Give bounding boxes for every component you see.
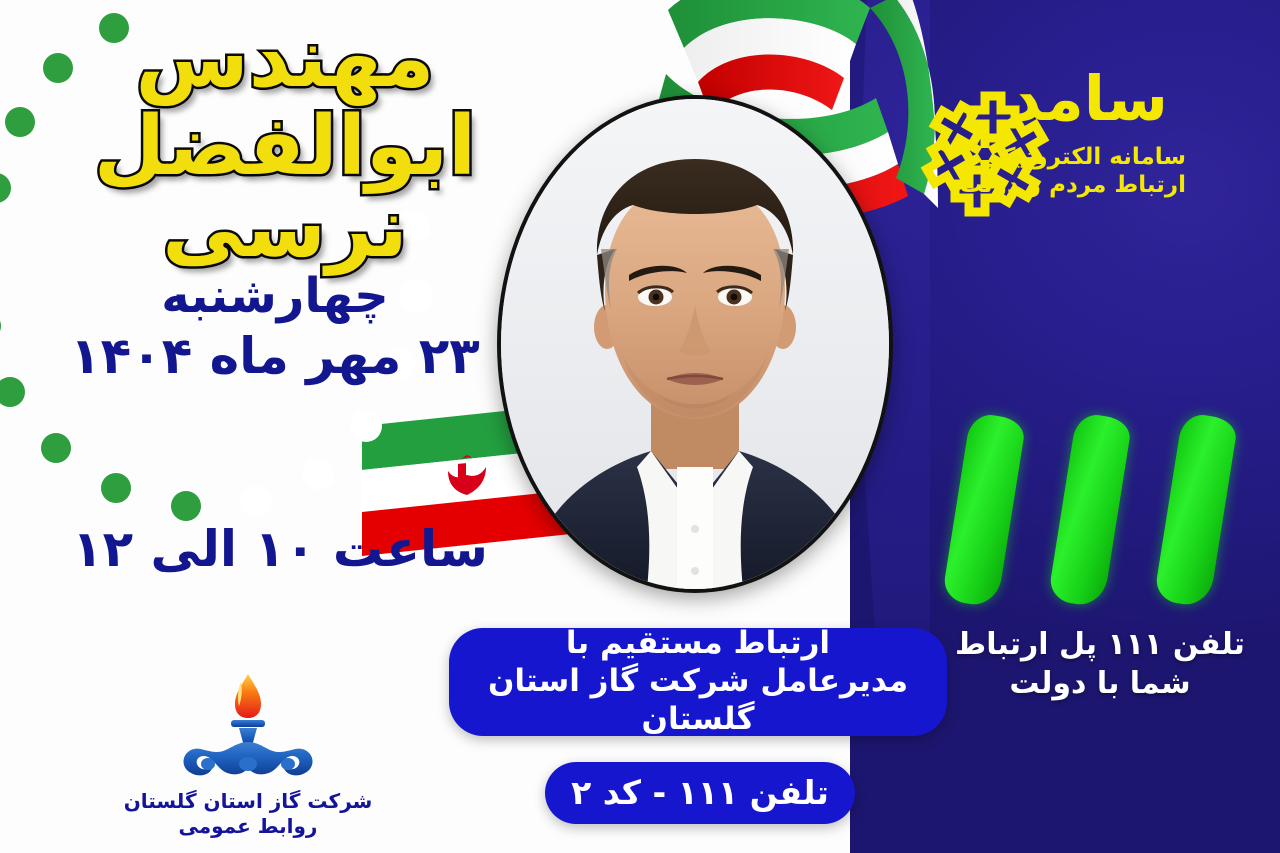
headline-block: مهندس ابوالفضل نرسی (50, 18, 520, 270)
event-date-block: چهارشنبه ۲۳ مهر ماه ۱۴۰۴ (70, 270, 480, 384)
phone-bridge-caption: تلفن ۱۱۱ پل ارتباط شما با دولت (940, 625, 1260, 703)
nigc-logo: شرکت گاز استان گلستان روابط عمومی (118, 672, 378, 847)
samad-wordmark: سامد (1010, 68, 1168, 130)
cta-phone-banner[interactable]: تلفن ۱۱۱ - کد ۲ (545, 762, 855, 824)
official-portrait-photo (497, 95, 893, 593)
event-weekday: چهارشنبه (70, 270, 480, 324)
cta-main-line2: مدیرعامل شرکت گاز استان گلستان (459, 663, 937, 739)
green-111-numerals (950, 415, 1240, 610)
cta-main-line1: ارتباط مستقیم با (459, 625, 937, 663)
poster-canvas: مهندس ابوالفضل نرسی چهارشنبه ۲۳ مهر ماه … (0, 0, 1280, 853)
nigc-org-name: شرکت گاز استان گلستان (118, 789, 378, 813)
event-date: ۲۳ مهر ماه ۱۴۰۴ (70, 328, 480, 384)
phone-caption-line1: تلفن ۱۱۱ پل ارتباط (940, 625, 1260, 664)
samad-subtitle-line1: سامانه الکترونیکی (979, 144, 1186, 170)
samad-subtitle: سامانه الکترونیکی ارتباط مردم و دولت (960, 144, 1186, 199)
portrait-container (497, 95, 887, 595)
event-time: ساعت ۱۰ الی ۱۲ (70, 520, 490, 578)
green-numeral-one (1153, 412, 1238, 608)
green-numeral-one (1047, 412, 1132, 608)
person-full-name: ابوالفضل نرسی (50, 106, 520, 270)
nigc-flame-logo-icon (118, 672, 378, 787)
green-numeral-one (941, 412, 1026, 608)
nigc-department: روابط عمومی (118, 814, 378, 838)
samad-logo: سامد سامانه الکترونیکی ارتباط مردم و دول… (912, 66, 1264, 246)
samad-subtitle-line2: ارتباط مردم و دولت (960, 172, 1186, 200)
cta-main-banner[interactable]: ارتباط مستقیم با مدیرعامل شرکت گاز استان… (449, 628, 947, 736)
phone-caption-line2: شما با دولت (940, 664, 1260, 703)
page-title: مهندس (50, 18, 520, 100)
